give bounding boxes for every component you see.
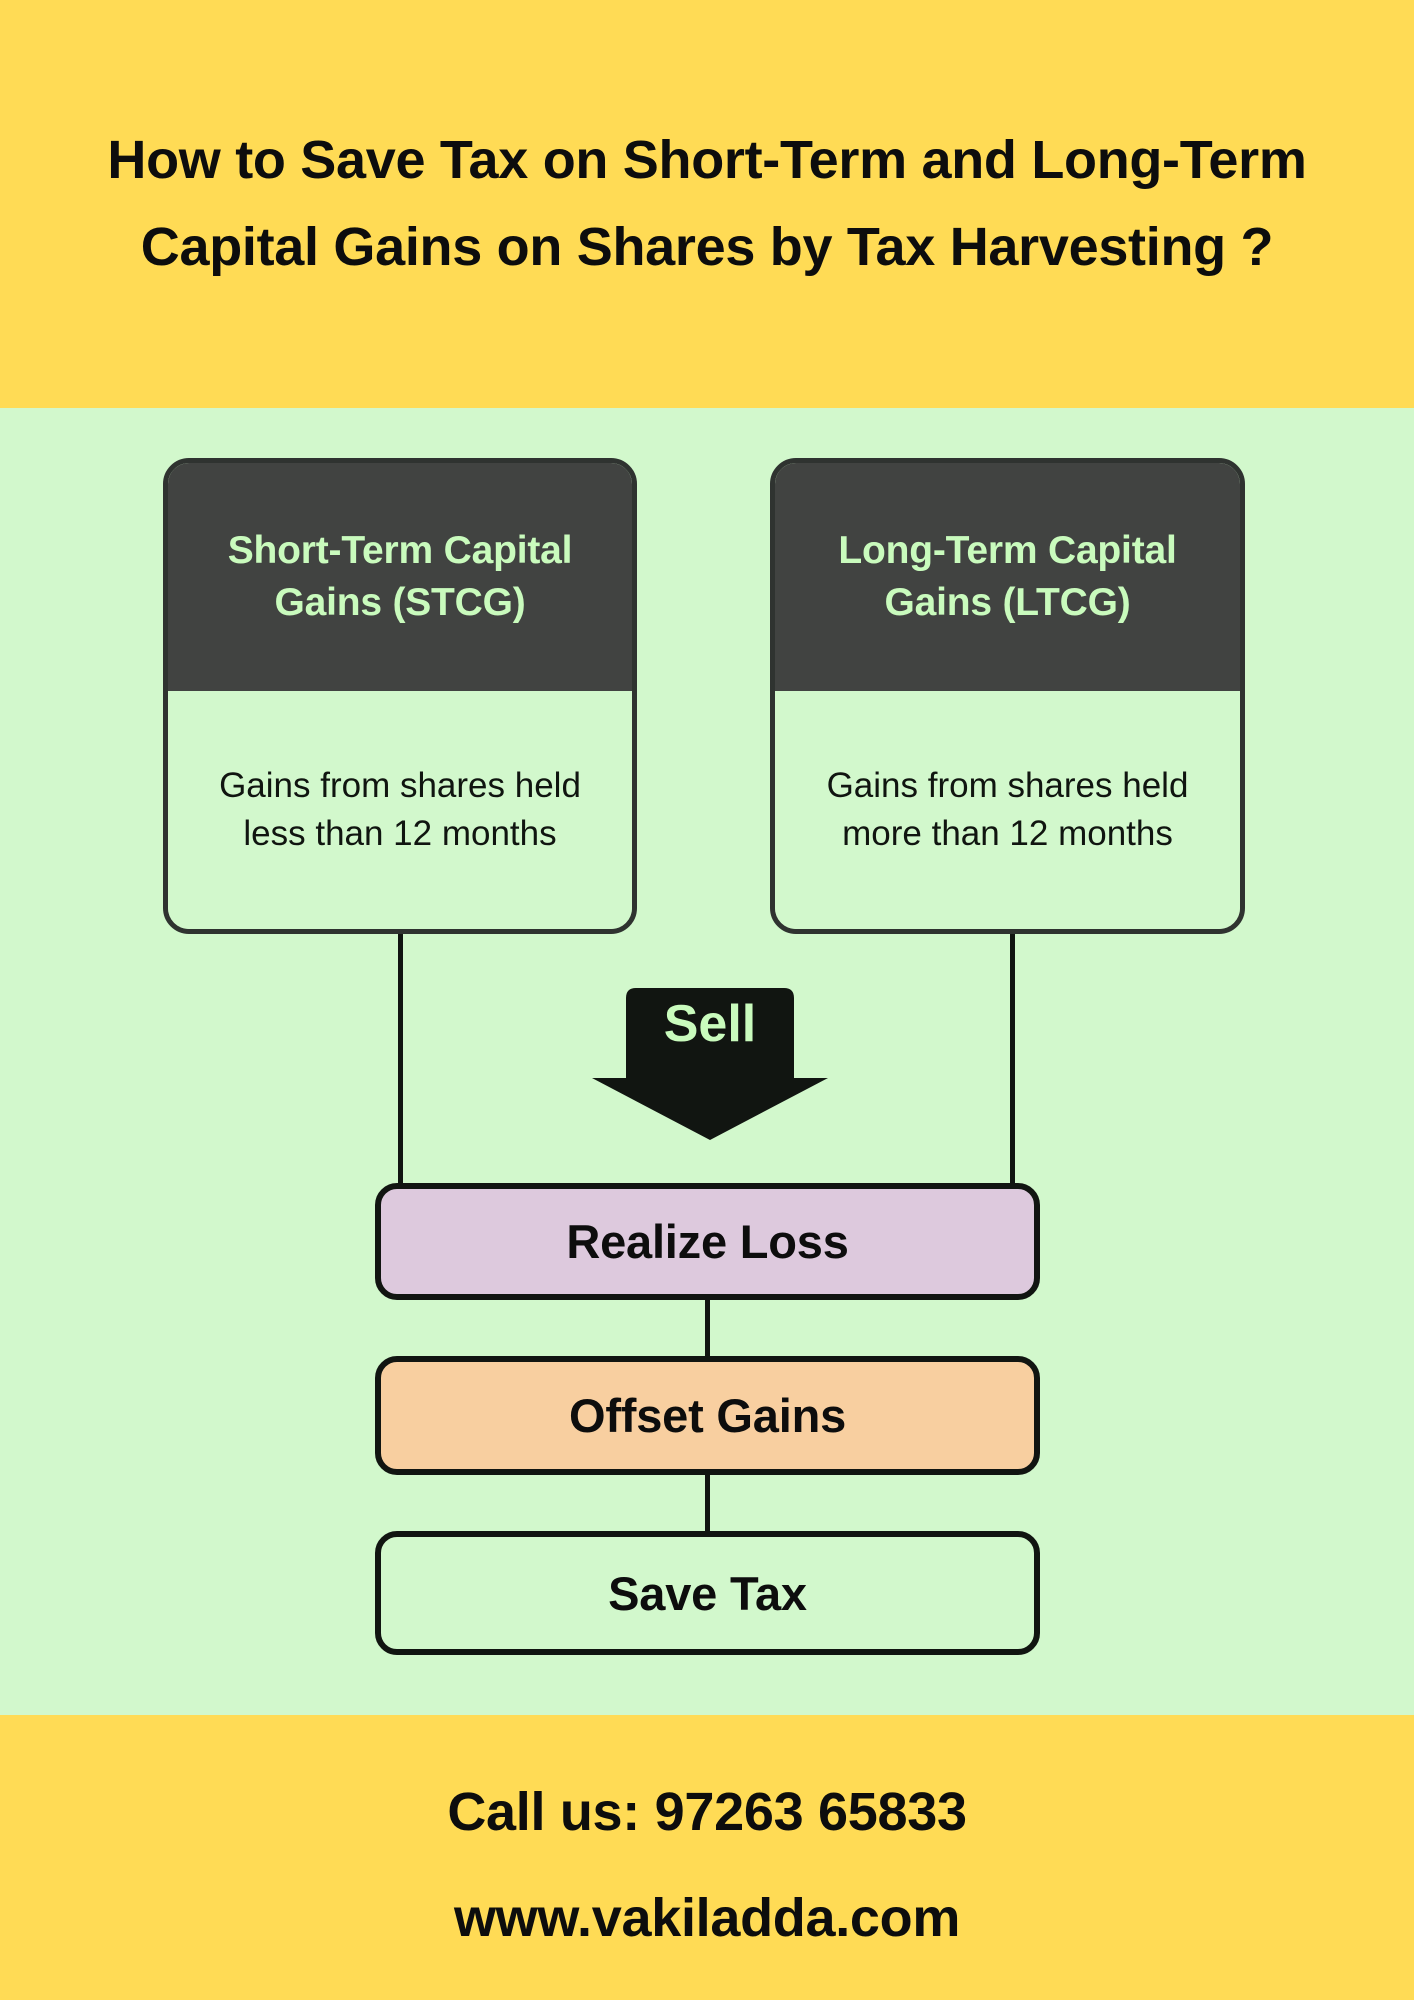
step-realize-loss-label: Realize Loss [566, 1218, 848, 1265]
card-stcg-body: Gains from shares held less than 12 mont… [168, 691, 632, 929]
card-stcg: Short-Term Capital Gains (STCG) Gains fr… [163, 458, 637, 934]
header-banner: How to Save Tax on Short-Term and Long-T… [0, 0, 1414, 408]
step-offset-gains: Offset Gains [375, 1356, 1040, 1475]
step-offset-gains-label: Offset Gains [569, 1392, 846, 1439]
connector-ltcg-to-realize-loss [1010, 931, 1015, 1187]
footer-banner: Call us: 97263 65833 www.vakiladda.com [0, 1715, 1414, 2000]
card-stcg-header: Short-Term Capital Gains (STCG) [168, 463, 632, 691]
connector-stcg-to-realize-loss [398, 931, 403, 1187]
step-save-tax-label: Save Tax [608, 1570, 807, 1617]
connector-offset-gains-to-save-tax [705, 1473, 710, 1533]
card-ltcg-description: Gains from shares held more than 12 mont… [793, 762, 1222, 858]
card-stcg-description: Gains from shares held less than 12 mont… [186, 762, 614, 858]
page-title: How to Save Tax on Short-Term and Long-T… [40, 117, 1374, 292]
contact-phone[interactable]: Call us: 97263 65833 [447, 1785, 966, 1839]
connector-realize-loss-to-offset-gains [705, 1298, 710, 1358]
card-ltcg-body: Gains from shares held more than 12 mont… [775, 691, 1240, 929]
step-realize-loss: Realize Loss [375, 1183, 1040, 1300]
contact-website[interactable]: www.vakiladda.com [454, 1891, 960, 1945]
card-ltcg: Long-Term Capital Gains (LTCG) Gains fro… [770, 458, 1245, 934]
card-ltcg-title: Long-Term Capital Gains (LTCG) [785, 525, 1230, 629]
infographic-poster: How to Save Tax on Short-Term and Long-T… [0, 0, 1414, 2000]
card-ltcg-header: Long-Term Capital Gains (LTCG) [775, 463, 1240, 691]
down-arrow-icon [590, 986, 830, 1142]
step-save-tax: Save Tax [375, 1531, 1040, 1655]
card-stcg-title: Short-Term Capital Gains (STCG) [178, 525, 622, 629]
sell-arrow: Sell [590, 986, 830, 1142]
